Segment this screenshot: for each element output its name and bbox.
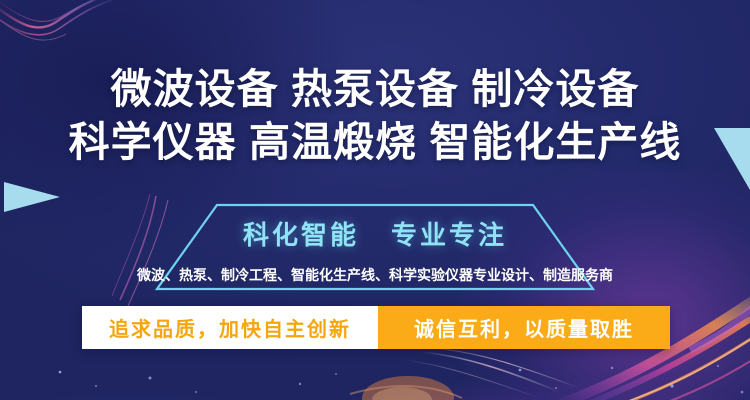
slogan-sub: 微波、热泵、制冷工程、智能化生产线、科学实验仪器专业设计、制造服务商 (0, 265, 750, 285)
badge-bar: 追求品质，加快自主创新 诚信互利，以质量取胜 (82, 306, 670, 349)
badge-integrity-quality[interactable]: 诚信互利，以质量取胜 (378, 306, 670, 349)
headline-line-2: 科学仪器 高温煅烧 智能化生产线 (0, 116, 750, 169)
slogan-cyan-right: 专业专注 (391, 220, 507, 250)
headline-group: 微波设备 热泵设备 制冷设备 科学仪器 高温煅烧 智能化生产线 (0, 63, 750, 169)
headline-line-1: 微波设备 热泵设备 制冷设备 (0, 63, 750, 116)
promo-banner: 微波设备 热泵设备 制冷设备 科学仪器 高温煅烧 智能化生产线 科化智能专业专注… (0, 0, 750, 400)
slogan-cyan-left: 科化智能 (243, 220, 359, 250)
left-triangle-icon (4, 182, 60, 212)
badge-quality-innovation[interactable]: 追求品质，加快自主创新 (82, 306, 378, 349)
slogan-cyan: 科化智能专业专注 (0, 218, 750, 252)
